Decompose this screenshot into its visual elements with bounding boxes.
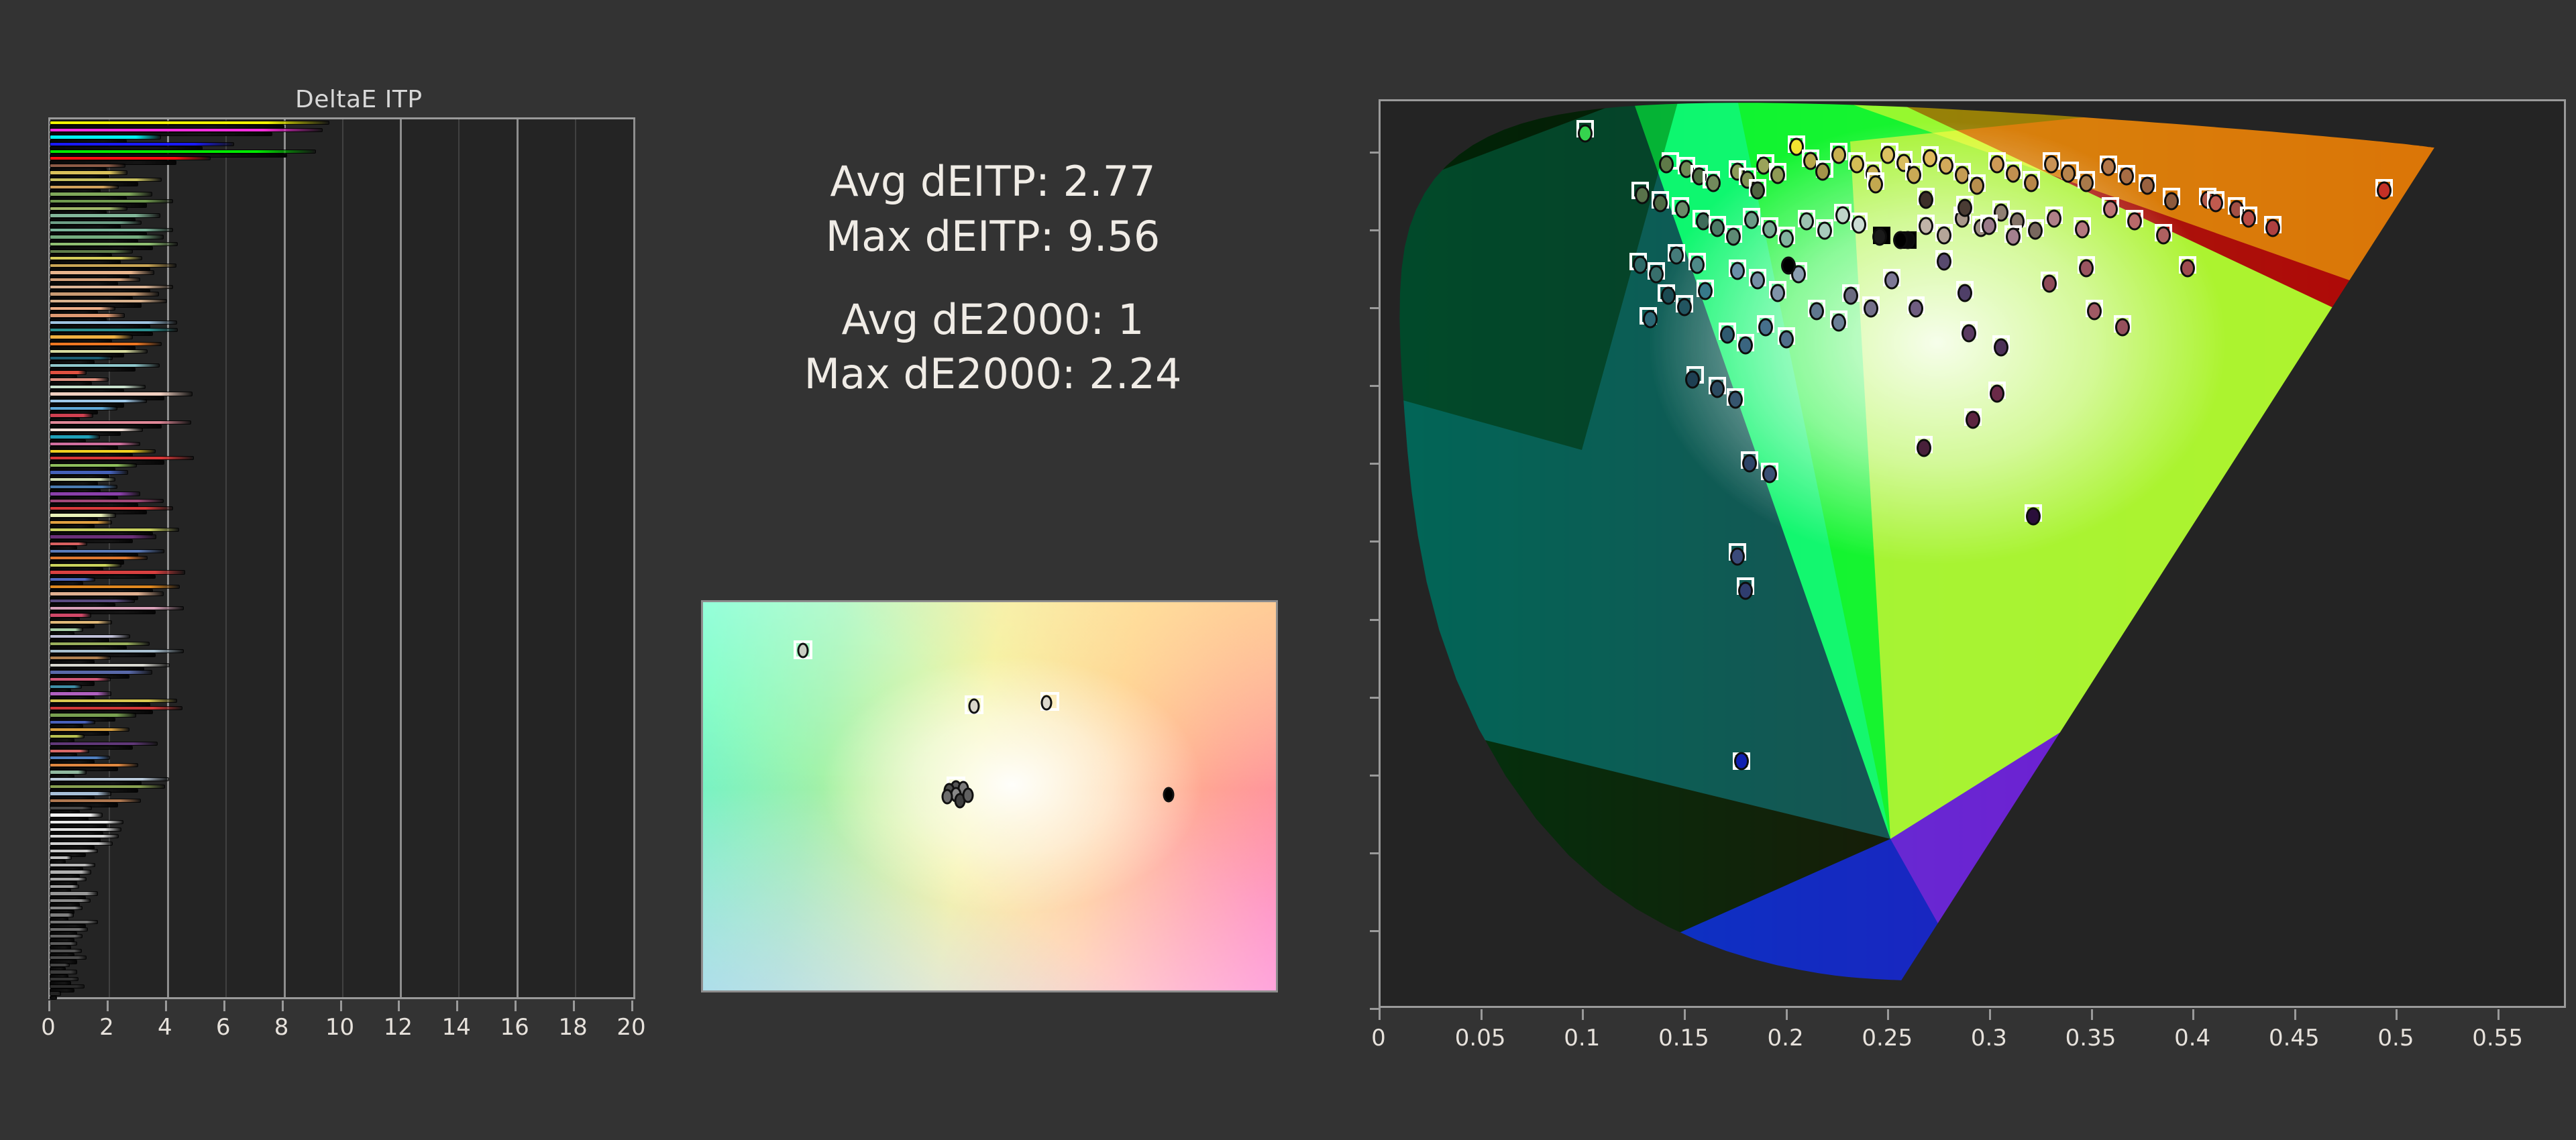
cie-measured-point [1966, 411, 1980, 429]
bar-group [50, 607, 633, 614]
axis-tick-label: 0.5 [2377, 1025, 2414, 1051]
bar-group [50, 335, 633, 343]
cie-y-axis-ticks [1362, 99, 1381, 1008]
bar-deitp [50, 157, 210, 160]
bar-group [50, 600, 633, 607]
bar-deitp [50, 150, 315, 153]
bar-group [50, 778, 633, 785]
axis-tick [165, 1001, 167, 1011]
bar-deitp [50, 171, 127, 174]
bar-deitp [50, 229, 172, 231]
bar-group [50, 756, 633, 764]
summary-stats-panel: Avg dEITP: 2.77 Max dEITP: 9.56 Avg dE20… [684, 154, 1301, 402]
cie-measured-point [2006, 164, 2021, 182]
bar-group [50, 571, 633, 578]
cie-measured-point [1758, 318, 1773, 336]
cie-measured-point [2061, 164, 2076, 182]
bar-group [50, 435, 633, 443]
cie-measured-point [1728, 391, 1743, 409]
bar-group [50, 414, 633, 421]
bar-deitp [50, 799, 140, 802]
cie-measured-point [1849, 155, 1864, 173]
bar-deitp [50, 792, 111, 795]
axis-tick-label: 0.4 [2174, 1025, 2210, 1051]
axis-tick [1481, 1009, 1483, 1020]
bar-group [50, 771, 633, 778]
bar-deitp [50, 600, 134, 602]
axis-tick [2396, 1009, 2398, 1020]
bar-group [50, 257, 633, 264]
bar-group [50, 421, 633, 429]
bar-group [50, 714, 633, 721]
bar-deitp [50, 935, 82, 937]
bar-group [50, 178, 633, 186]
bar-group [50, 635, 633, 642]
swatch-measured-point [1040, 695, 1052, 710]
bar-deitp [50, 478, 115, 481]
cie-measured-point [1880, 146, 1895, 164]
bar-group [50, 457, 633, 464]
bar-deitp [50, 992, 60, 994]
cie-markers [1381, 101, 2564, 1006]
bar-group [50, 192, 633, 200]
cie-measured-point [2075, 220, 2090, 238]
bar-group [50, 400, 633, 407]
axis-tick-label: 0.45 [2269, 1025, 2320, 1051]
axis-tick [573, 1001, 575, 1011]
bar-deitp [50, 400, 146, 402]
cie-measured-point [2164, 192, 2179, 211]
cie-measured-point [1939, 157, 1953, 175]
bar-deitp [50, 592, 163, 595]
bar-deitp [50, 821, 123, 823]
cie-measured-point [1659, 155, 1674, 173]
axis-tick [48, 1001, 50, 1011]
bar-group [50, 992, 633, 999]
cie-measured-point [2180, 259, 2195, 277]
bar-deitp [50, 657, 110, 659]
bar-group [50, 221, 633, 229]
axis-tick [2294, 1009, 2296, 1020]
cie-measured-point [1730, 547, 1745, 565]
axis-tick [1370, 697, 1381, 699]
cie-measured-point [1730, 262, 1745, 280]
swatch-measured-point [962, 788, 973, 803]
bar-group [50, 964, 633, 971]
axis-tick [515, 1001, 517, 1011]
axis-tick [223, 1001, 225, 1011]
bar-deitp [50, 329, 177, 331]
bar-group [50, 885, 633, 893]
bar-deitp [50, 407, 117, 410]
axis-tick [2091, 1009, 2093, 1020]
bar-deitp [50, 721, 95, 724]
bar-deitp [50, 564, 121, 567]
cie-measured-point [1669, 247, 1684, 265]
cie-measured-point [1698, 282, 1713, 300]
cie-measured-point [1649, 265, 1664, 283]
bar-deitp [50, 699, 176, 702]
axis-tick-label: 0 [1371, 1025, 1386, 1051]
avg-de2000-label: Avg dE2000: 1 [684, 292, 1301, 347]
bar-deitp [50, 300, 166, 302]
cie-measured-point [1893, 231, 1908, 249]
cie-measured-point [2079, 174, 2094, 192]
cie-measured-point [2208, 194, 2223, 212]
bar-group [50, 942, 633, 950]
axis-tick [456, 1001, 458, 1011]
bar-group [50, 557, 633, 564]
deltae-chart-panel: DeltaE ITP 02468101214161820 [0, 0, 684, 1140]
cie-measured-point [1907, 166, 1921, 184]
bar-group [50, 699, 633, 707]
bar-group [50, 286, 633, 293]
bar-deitp [50, 785, 164, 788]
bar-deitp [50, 278, 140, 281]
axis-tick [1989, 1009, 1991, 1020]
bar-deitp [50, 678, 110, 681]
bar-group [50, 350, 633, 357]
bar-deitp [50, 756, 109, 759]
bar-group [50, 685, 633, 693]
bar-group [50, 214, 633, 221]
bar-deitp [50, 435, 99, 438]
bar-deitp [50, 892, 97, 895]
bar-group [50, 229, 633, 236]
axis-tick [2192, 1009, 2194, 1020]
bar-group [50, 564, 633, 571]
bar-group [50, 550, 633, 557]
deltae-plot-area [48, 117, 635, 999]
cie-measured-point [1994, 338, 2008, 356]
axis-tick-label: 0.1 [1564, 1025, 1600, 1051]
bar-group [50, 478, 633, 486]
bar-deitp [50, 807, 91, 809]
bar-deitp [50, 899, 90, 902]
cie-measured-point [1917, 439, 1931, 457]
bar-group [50, 378, 633, 386]
bar-deitp [50, 314, 124, 317]
bar-group [50, 471, 633, 478]
bar-deitp [50, 371, 86, 374]
cie-measured-point [1742, 454, 1757, 472]
bar-group [50, 928, 633, 935]
cie-measured-point [1831, 313, 1846, 331]
bar-group [50, 157, 633, 164]
bar-group [50, 878, 633, 885]
bar-group [50, 692, 633, 699]
cie-measured-point [1919, 191, 1933, 209]
cie-measured-point [1799, 213, 1814, 231]
bar-deitp [50, 671, 152, 673]
deltae-x-axis-ticks [48, 1001, 635, 1014]
axis-tick [1370, 152, 1381, 154]
axis-tick [1379, 1009, 1381, 1020]
cie-measured-point [1843, 287, 1858, 305]
cie-measured-point [2115, 318, 2130, 336]
bar-group [50, 614, 633, 621]
axis-tick-label: 0.35 [2065, 1025, 2116, 1051]
axis-tick [1684, 1009, 1686, 1020]
cie-measured-point [1962, 324, 1976, 342]
cie-measured-point [2101, 158, 2116, 176]
bar-group [50, 907, 633, 914]
axis-tick [1370, 540, 1381, 543]
bar-deitp [50, 607, 183, 610]
bar-group [50, 707, 633, 714]
axis-tick [1370, 930, 1381, 932]
cie-measured-point [1779, 331, 1794, 349]
bar-deitp [50, 742, 157, 745]
cie-measured-point [1685, 371, 1700, 389]
bar-group [50, 407, 633, 414]
bar-group [50, 464, 633, 471]
bar-deitp [50, 835, 118, 838]
bar-deitp [50, 471, 127, 473]
bar-group [50, 899, 633, 907]
bar-deitp [50, 985, 84, 988]
bar-group [50, 856, 633, 864]
bar-group [50, 850, 633, 857]
bar-deitp [50, 664, 169, 667]
cie-measured-point [2028, 222, 2043, 240]
cie-measured-point [1578, 124, 1593, 142]
bar-group [50, 721, 633, 728]
axis-tick [107, 1001, 109, 1011]
bar-group [50, 821, 633, 828]
bar-group [50, 528, 633, 536]
deltae-bars-container [50, 121, 633, 997]
bar-deitp [50, 121, 329, 124]
max-deitp-label: Max dEITP: 9.56 [684, 209, 1301, 264]
bar-group [50, 978, 633, 985]
bar-group [50, 985, 633, 992]
bar-deitp [50, 735, 84, 738]
bar-group [50, 300, 633, 307]
bar-group [50, 307, 633, 315]
bar-deitp [50, 192, 152, 195]
bar-deitp [50, 535, 156, 538]
cie-measured-point [1937, 227, 1951, 245]
bar-deitp [50, 750, 89, 752]
bar-deitp [50, 486, 117, 488]
bar-group [50, 543, 633, 550]
bar-group [50, 664, 633, 671]
bar-deitp [50, 850, 97, 852]
bar-group [50, 492, 633, 500]
bar-deitp [50, 335, 132, 338]
cie-measured-point [1653, 194, 1668, 212]
axis-tick-label: 0.25 [1862, 1025, 1913, 1051]
stats-spacer [684, 264, 1301, 292]
bar-deitp [50, 292, 158, 295]
cie-measured-point [1762, 465, 1777, 483]
bar-deitp [50, 614, 91, 616]
bar-group [50, 970, 633, 978]
bar-group [50, 592, 633, 600]
bar-deitp [50, 543, 87, 545]
bar-deitp [50, 978, 78, 980]
bar-group [50, 628, 633, 636]
bar-deitp [50, 143, 233, 146]
bar-deitp [50, 321, 176, 324]
axis-tick [631, 1001, 633, 1011]
cie-measured-point [2006, 228, 2021, 246]
bar-group [50, 585, 633, 593]
bar-group [50, 235, 633, 243]
bar-group [50, 835, 633, 842]
bar-deitp [50, 728, 129, 731]
bar-deitp [50, 813, 102, 816]
cie-measured-point [1706, 174, 1721, 192]
bar-deitp [50, 264, 176, 267]
bar-group [50, 921, 633, 928]
bar-group [50, 250, 633, 258]
swatch-measured-point [1163, 787, 1175, 802]
bar-deitp [50, 928, 87, 931]
cie-measured-point [1864, 299, 1878, 317]
axis-tick-label: 0.3 [1971, 1025, 2007, 1051]
axis-tick [2498, 1009, 2500, 1020]
bar-deitp [50, 870, 91, 873]
cie-measured-point [1710, 380, 1725, 398]
bar-group [50, 371, 633, 378]
cie-measured-point [1970, 177, 1984, 195]
cie-measured-point [1770, 166, 1785, 184]
bar-group [50, 650, 633, 657]
swatch-measured-point [968, 699, 979, 714]
axis-tick [1887, 1009, 1889, 1020]
cie-measured-point [1990, 384, 2004, 402]
cie-x-axis-ticks [1379, 1009, 2566, 1023]
cie-plot-area [1379, 99, 2566, 1008]
axis-tick-label: 0.15 [1658, 1025, 1709, 1051]
bar-group [50, 764, 633, 771]
bar-deitp [50, 492, 140, 495]
bar-deitp [50, 828, 121, 831]
bar-group [50, 807, 633, 814]
bar-group [50, 578, 633, 585]
bar-deitp [50, 964, 69, 966]
bar-group [50, 121, 633, 129]
bar-deitp [50, 650, 183, 652]
bar-deitp [50, 685, 81, 688]
cie-measured-point [1982, 217, 1996, 235]
bar-group [50, 271, 633, 278]
bar-deitp [50, 221, 141, 224]
cie-measured-point [2119, 168, 2134, 186]
bar-deitp [50, 550, 164, 553]
bar-group [50, 935, 633, 942]
bar-deitp [50, 692, 111, 695]
cie-measured-point [2127, 213, 2142, 231]
cie-measured-point [1720, 326, 1735, 344]
cie-measured-point [2265, 219, 2280, 237]
bar-deitp [50, 771, 86, 773]
bar-deitp [50, 635, 129, 638]
bar-deitp [50, 392, 192, 395]
cie-measured-point [2377, 182, 2392, 200]
bar-deitp [50, 878, 86, 880]
cie-measured-point [1872, 228, 1887, 246]
bar-group [50, 321, 633, 329]
cie-measured-point [1750, 272, 1765, 290]
bar-deitp [50, 557, 147, 559]
cie-measured-point [2079, 259, 2094, 277]
bar-group [50, 828, 633, 836]
bar-group [50, 392, 633, 400]
bar-group [50, 892, 633, 899]
gridline [633, 119, 635, 997]
swatch-markers [703, 602, 1276, 990]
bar-group [50, 207, 633, 215]
bar-group [50, 243, 633, 250]
bar-deitp [50, 421, 191, 424]
bar-group [50, 813, 633, 821]
bar-deitp [50, 450, 155, 453]
bar-group [50, 535, 633, 543]
cie-measured-point [1661, 287, 1676, 305]
bar-group [50, 357, 633, 364]
cie-measured-point [2087, 302, 2102, 321]
bar-deitp [50, 207, 127, 210]
bar-group [50, 956, 633, 964]
bar-deitp [50, 200, 172, 203]
bar-group [50, 950, 633, 957]
bar-group [50, 343, 633, 350]
bar-group [50, 429, 633, 436]
bar-deitp [50, 214, 160, 217]
bar-deitp [50, 414, 93, 416]
cie-measured-point [1884, 272, 1899, 290]
bar-deitp [50, 585, 179, 588]
axis-tick [1370, 229, 1381, 231]
bar-deitp [50, 135, 160, 138]
bar-group [50, 292, 633, 300]
cie-measured-point [1779, 229, 1794, 247]
bar-group [50, 742, 633, 750]
cie-measured-point [2042, 274, 2057, 292]
bar-deitp [50, 528, 178, 531]
bar-deitp [50, 129, 322, 131]
bar-deitp [50, 864, 95, 866]
bar-deitp [50, 842, 112, 845]
cie-measured-point [1817, 222, 1832, 240]
bar-deitp [50, 621, 111, 624]
bar-deitp [50, 350, 147, 353]
bar-group [50, 186, 633, 193]
bar-deitp [50, 950, 81, 952]
cie-measured-point [1690, 256, 1705, 274]
bar-group [50, 264, 633, 272]
bar-deitp [50, 357, 112, 359]
axis-tick [1370, 307, 1381, 309]
cie-measured-point [2044, 155, 2059, 173]
bar-deitp [50, 907, 82, 909]
bar-deitp [50, 885, 78, 888]
bar-deitp [50, 942, 76, 945]
cie-measured-point [1919, 217, 1933, 235]
bar-group [50, 521, 633, 528]
bar-group [50, 728, 633, 736]
bar-deitp [50, 970, 76, 973]
axis-tick [1370, 463, 1381, 465]
bar-deitp [50, 164, 125, 167]
bar-deitp [50, 913, 73, 916]
cie-measured-point [1738, 581, 1753, 600]
bar-group [50, 386, 633, 393]
bar-group [50, 329, 633, 336]
